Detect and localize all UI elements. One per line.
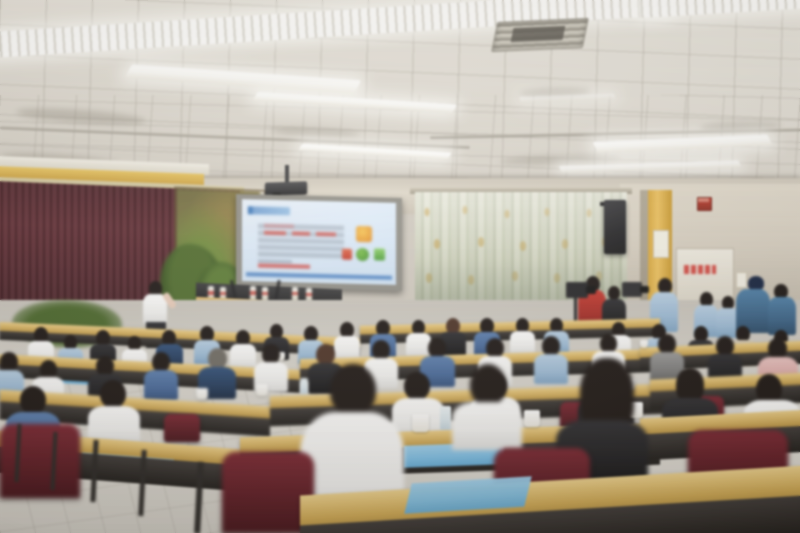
- lecture-hall-photo: [0, 0, 800, 533]
- desk-leg: [194, 462, 204, 533]
- desk-leg: [138, 450, 146, 516]
- desk-legs: [0, 0, 800, 533]
- desk-leg: [50, 432, 57, 490]
- desk-leg: [90, 440, 98, 502]
- desk-leg: [14, 424, 21, 482]
